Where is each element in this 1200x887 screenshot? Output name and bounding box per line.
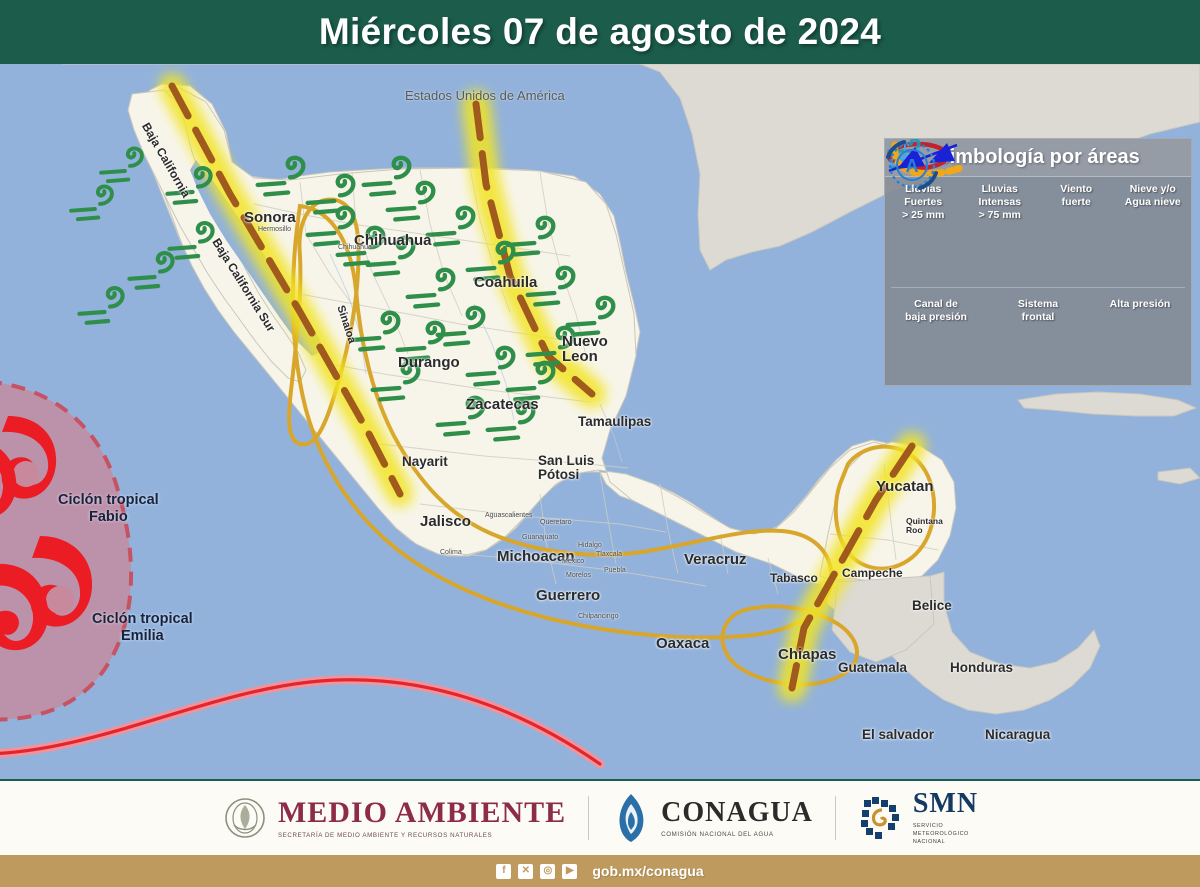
brand-divider-2: [835, 796, 836, 840]
legend-row-areas: Lluvias Fuertes > 25 mm Lluvias Intensas…: [885, 177, 1191, 287]
brand-conagua: CONAGUA COMISIÓN NACIONAL DEL AGUA: [611, 792, 813, 844]
legend-row-systems: Canal de baja presión Sistema frontal: [885, 288, 1191, 384]
legend-label: Nieve y/o Agua nieve: [1125, 183, 1181, 209]
legend-panel[interactable]: Simbología por áreas Lluvias Fuertes > 2…: [884, 138, 1192, 386]
mexico-coat-of-arms-icon: [222, 795, 268, 841]
legend-item-canal-baja-presion[interactable]: Canal de baja presión: [885, 292, 987, 384]
brand-subtitle: SECRETARÍA DE MEDIO AMBIENTE Y RECURSOS …: [278, 832, 566, 839]
weather-map-page: Miércoles 07 de agosto de 2024: [0, 0, 1200, 887]
map-canvas[interactable]: Estados Unidos de AméricaBeliceGuatemala…: [0, 64, 1200, 781]
youtube-icon[interactable]: ▶: [562, 864, 577, 879]
x-twitter-icon[interactable]: ✕: [518, 864, 533, 879]
brand-medio-ambiente: MEDIO AMBIENTE SECRETARÍA DE MEDIO AMBIE…: [222, 795, 566, 841]
conagua-eagle-icon: [611, 792, 651, 844]
legend-label: Canal de baja presión: [905, 298, 967, 324]
legend-label: Viento fuerte: [1060, 183, 1092, 209]
header-bar: Miércoles 07 de agosto de 2024: [0, 0, 1200, 64]
high-pressure-letter: A: [906, 156, 919, 176]
brand-divider-1: [588, 796, 589, 840]
footer-social-bar: f ✕ ◎ ▶ gob.mx/conagua: [0, 855, 1200, 887]
legend-item-lluvias-fuertes[interactable]: Lluvias Fuertes > 25 mm: [885, 177, 962, 287]
instagram-icon[interactable]: ◎: [540, 864, 555, 879]
cyclone-label: Ciclón tropical Fabio: [58, 492, 159, 525]
legend-label: Lluvias Intensas > 75 mm: [978, 183, 1021, 222]
legend-label: Alta presión: [1110, 298, 1171, 311]
footer-brand-bar: MEDIO AMBIENTE SECRETARÍA DE MEDIO AMBIE…: [0, 781, 1200, 855]
legend-label: Sistema frontal: [1018, 298, 1058, 324]
website-url[interactable]: gob.mx/conagua: [592, 863, 703, 879]
page-title: Miércoles 07 de agosto de 2024: [0, 0, 1200, 64]
facebook-icon[interactable]: f: [496, 864, 511, 879]
brand-name: SMN: [913, 790, 978, 818]
brand-name: CONAGUA: [661, 799, 813, 827]
cyclone-label: Ciclón tropical Emilia: [92, 611, 193, 644]
legend-item-alta-presion[interactable]: Alta presión A: [1089, 292, 1191, 384]
legend-item-lluvias-intensas[interactable]: Lluvias Intensas > 75 mm: [962, 177, 1039, 287]
smn-spiral-icon: [858, 794, 904, 842]
brand-subtitle: COMISIÓN NACIONAL DEL AGUA: [661, 831, 813, 838]
legend-item-sistema-frontal[interactable]: Sistema frontal: [987, 292, 1089, 384]
legend-item-viento-fuerte[interactable]: Viento fuerte: [1038, 177, 1115, 287]
brand-subtitle: SERVICIO METEOROLÓGICO NACIONAL: [913, 822, 978, 846]
legend-item-nieve[interactable]: Nieve y/o Agua nieve: [1115, 177, 1192, 287]
brand-smn: SMN SERVICIO METEOROLÓGICO NACIONAL: [858, 790, 978, 846]
brand-name: MEDIO AMBIENTE: [278, 798, 566, 828]
